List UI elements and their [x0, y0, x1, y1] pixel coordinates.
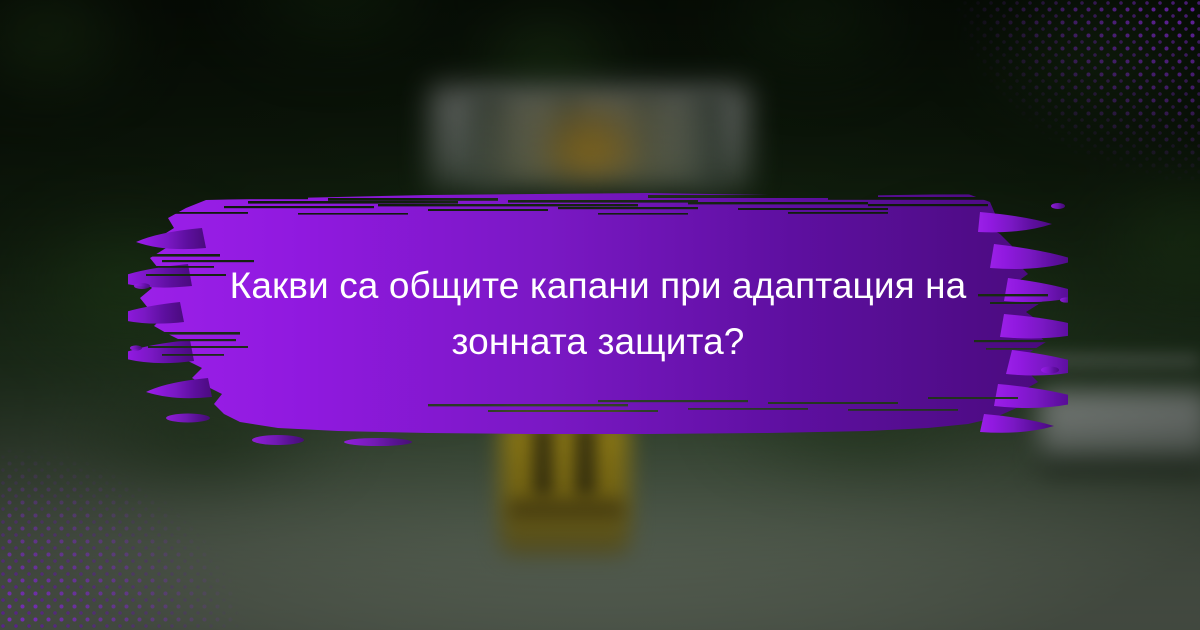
question-text: Какви са общите капани при адаптация на …: [218, 182, 978, 450]
brush-stroke-banner: Какви са общите капани при адаптация на …: [128, 182, 1068, 450]
question-card: Какви са общите капани при адаптация на …: [0, 0, 1200, 630]
